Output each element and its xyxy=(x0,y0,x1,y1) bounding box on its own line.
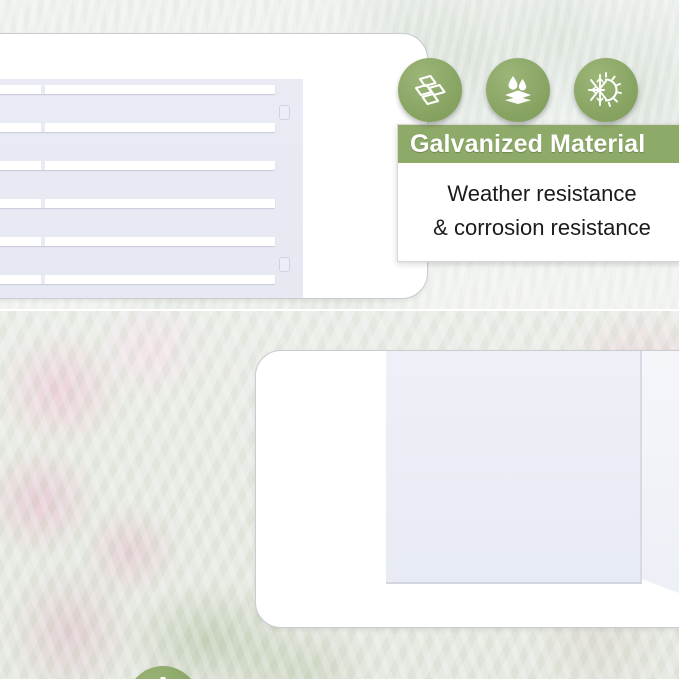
louver-slat-gap xyxy=(41,275,45,284)
louver-slat-gap xyxy=(41,123,45,132)
door-hinge xyxy=(279,257,290,272)
panel-divider xyxy=(0,309,679,311)
galvanized-material-callout: Galvanized Material Weather resistance &… xyxy=(397,124,679,262)
louvered-cabinet-product-image xyxy=(0,33,428,299)
cabinet-side-face xyxy=(641,351,679,628)
callout-body-galvanized: Weather resistance & corrosion resistanc… xyxy=(398,163,679,261)
louver-slat-gap xyxy=(41,85,45,94)
louver-door xyxy=(0,79,303,299)
louver-slat-gap xyxy=(41,237,45,246)
cabinet-vertical-edge xyxy=(640,351,642,583)
cabinet-body-product-image xyxy=(255,350,679,628)
callout-line: Weather resistance xyxy=(408,177,676,211)
detachable-wheels-panel: Detachable Wheels 360-degree universal i… xyxy=(0,311,679,679)
callout-title-galvanized: Galvanized Material xyxy=(398,125,679,163)
infographic-canvas: Galvanized Material Weather resistance &… xyxy=(0,0,679,679)
door-hinge xyxy=(279,105,290,120)
water-droplets-layers-icon xyxy=(486,58,550,122)
snowflake-sun-icon xyxy=(574,58,638,122)
louver-slat-gap xyxy=(41,161,45,170)
louver-slat-gap xyxy=(41,199,45,208)
cabinet-bottom-edge xyxy=(386,582,642,584)
galvanized-material-panel: Galvanized Material Weather resistance &… xyxy=(0,0,679,310)
cabinet-front-face xyxy=(386,351,641,583)
metal-ingots-icon xyxy=(398,58,462,122)
callout-line: & corrosion resistance xyxy=(408,211,676,245)
